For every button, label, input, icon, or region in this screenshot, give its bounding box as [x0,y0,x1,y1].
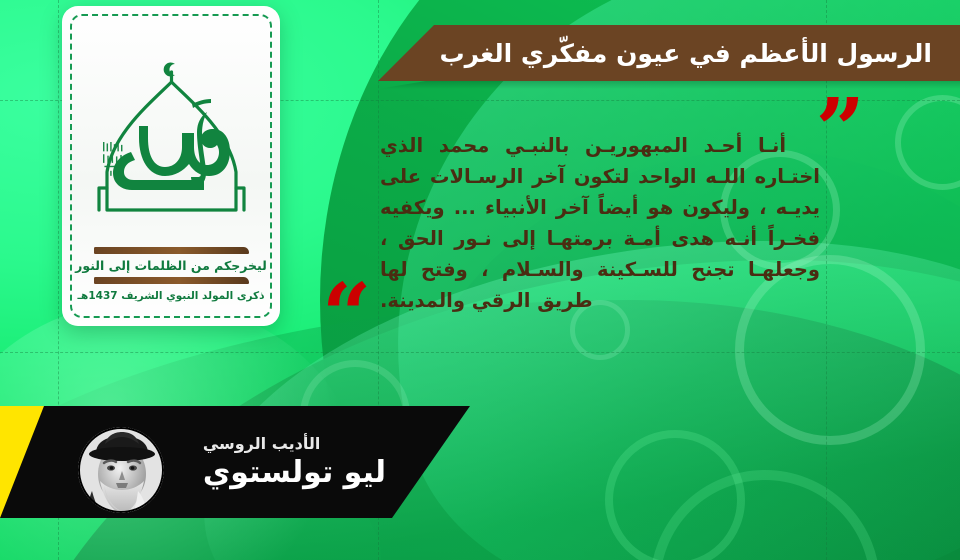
poster-canvas: الرسول الأعظم في عيون مفكّري الغرب [0,0,960,560]
author-name: ليو تولستوي [203,455,386,490]
author-role: الأديب الروسي [203,434,321,453]
crescent-icon [163,63,174,77]
quote-mark-close-icon: ” [816,100,865,162]
mosque-dome-icon [89,60,254,240]
ribbon-shadow [378,81,960,89]
divider-bar-bottom [94,277,249,284]
author-bar: الأديب الروسي ليو تولستوي [0,406,470,518]
logo-motto: ليخرجكم من الظلمات إلى النور [75,258,267,273]
quote-text: أنـا أحـد المبهوريـن بالنبـي محمد الذي ا… [380,130,820,316]
logo-card: ليخرجكم من الظلمات إلى النور ذكرى المولد… [62,6,280,326]
quote-paragraph: أنـا أحـد المبهوريـن بالنبـي محمد الذي ا… [380,130,820,316]
quote-mark-open-icon: “ [322,285,371,347]
header-ribbon: الرسول الأعظم في عيون مفكّري الغرب [378,25,960,81]
logo-occasion: ذكرى المولد النبوي الشريف 1437هـ [77,290,264,302]
page-title: الرسول الأعظم في عيون مفكّري الغرب [439,39,932,68]
divider-bar-top [94,247,249,254]
avatar [78,427,164,513]
